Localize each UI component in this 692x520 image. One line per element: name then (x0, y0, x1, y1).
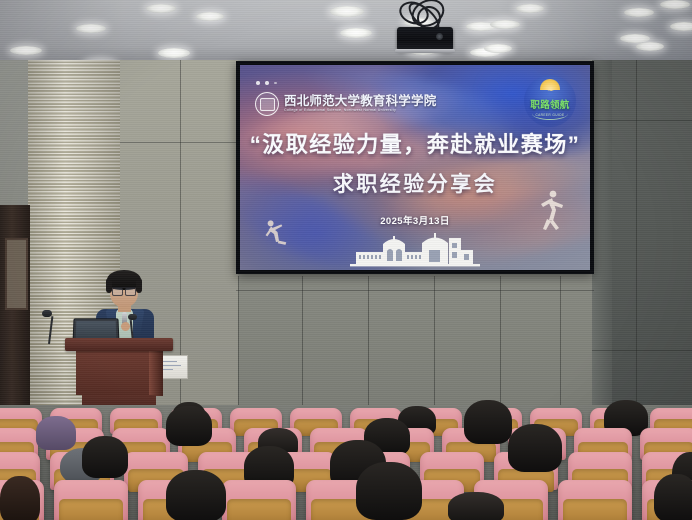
lecture-hall-photo: 西北师范大学教育科学学院 College of Educational Scie… (0, 0, 692, 520)
projection-screen-frame: 西北师范大学教育科学学院 College of Educational Scie… (236, 61, 594, 274)
auditorium-seat[interactable] (558, 480, 632, 520)
projector-lens (436, 33, 443, 40)
seated-attendee (36, 416, 76, 450)
ceiling-downlight (484, 44, 512, 53)
seated-attendee (0, 476, 40, 520)
school-name-cn: 西北师范大学教育科学学院 (284, 95, 436, 108)
wall-seam (560, 276, 561, 412)
seated-attendee (654, 474, 692, 520)
school-name-en: College of Educational Science, Northwes… (284, 109, 436, 113)
seated-attendee (464, 400, 512, 444)
campus-building-silhouette (350, 228, 480, 268)
ceiling-downlight (340, 28, 372, 38)
eyeglasses-icon (112, 287, 136, 294)
wall-seam (368, 276, 369, 412)
seated-attendee (448, 492, 504, 520)
door-window-panel (5, 238, 28, 310)
slide-decoration-dots (256, 81, 277, 85)
ceiling-downlight (516, 4, 544, 13)
podium-microphone-head (128, 314, 137, 320)
seated-attendee (166, 406, 212, 446)
projector-mount-plate (395, 49, 455, 53)
auditorium-seat[interactable] (54, 480, 128, 520)
wall-seam (238, 276, 239, 412)
right-wall-panels (612, 60, 692, 412)
wall-seam (592, 350, 692, 351)
school-logo: 西北师范大学教育科学学院 College of Educational Scie… (255, 92, 436, 116)
badge-arc (532, 107, 568, 120)
presentation-slide: 西北师范大学教育科学学院 College of Educational Scie… (240, 65, 590, 270)
ceiling-downlight (158, 48, 190, 58)
presenter-hair-side (136, 278, 142, 293)
ceiling-downlight (10, 46, 42, 55)
ceiling-downlight (670, 22, 692, 31)
runner-left-icon (256, 216, 292, 252)
seated-attendee (356, 462, 422, 520)
auditorium-seat[interactable] (222, 480, 296, 520)
ceiling-downlight (660, 0, 690, 9)
wall-seam (434, 276, 435, 412)
program-badge: 职路领航 CAREER GUIDE (524, 75, 576, 127)
wall-seam (592, 120, 692, 121)
seated-attendee (82, 436, 128, 478)
wall-seam (500, 276, 501, 412)
seated-attendee (508, 424, 562, 472)
wall-seam (636, 60, 637, 412)
ceiling-downlight (76, 24, 106, 33)
school-seal-icon (255, 92, 279, 116)
wall-seam (120, 142, 238, 143)
wall-seam (236, 290, 594, 291)
seated-attendee (166, 470, 226, 520)
ceiling-downlight (196, 12, 224, 21)
slide-title: “汲取经验力量，奔赴就业赛场” (240, 127, 590, 159)
right-wall-edge (592, 60, 614, 412)
presenter-hand (121, 322, 130, 331)
runner-right-icon (532, 188, 572, 234)
ceiling-downlight (624, 8, 654, 17)
ceiling-downlight (146, 4, 176, 13)
ceiling-projector (381, 0, 469, 58)
ceiling-downlight (490, 20, 520, 29)
ceiling-downlight (636, 42, 664, 51)
projector-body (397, 27, 453, 51)
wall-seam (302, 276, 303, 412)
ceiling-downlight (330, 6, 364, 17)
